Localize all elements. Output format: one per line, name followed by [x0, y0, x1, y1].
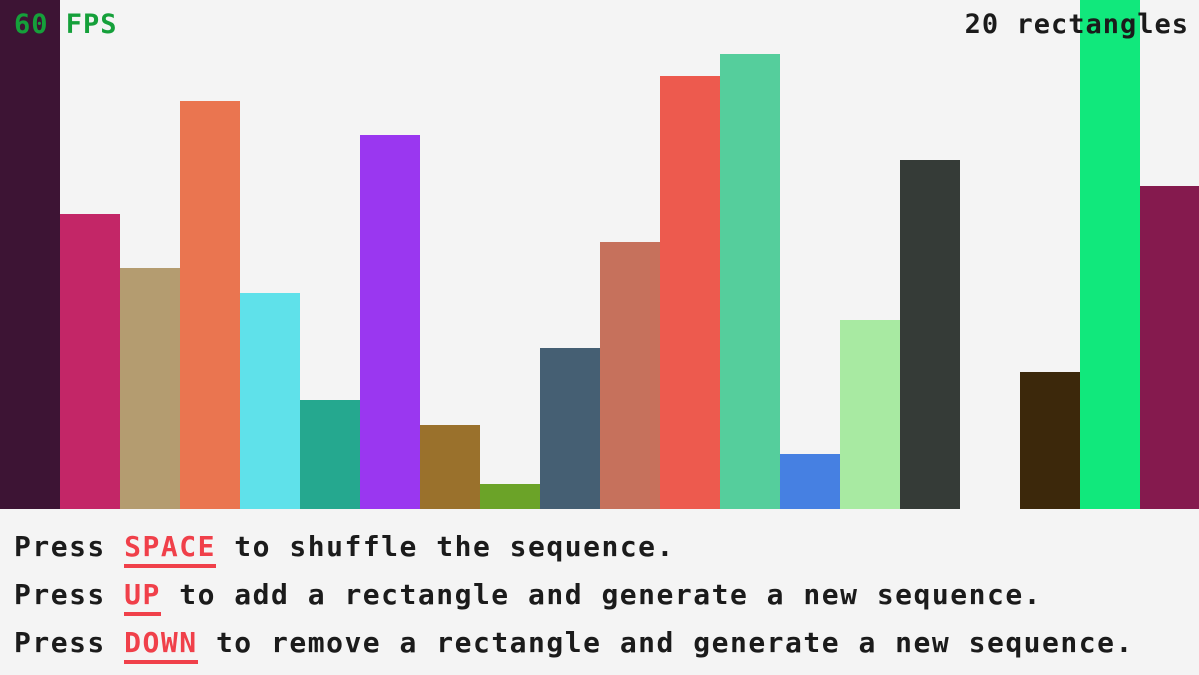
bar-chart[interactable] — [0, 0, 1199, 509]
bar-rectangle — [300, 400, 360, 509]
key-hint-up[interactable]: UP — [124, 578, 161, 616]
bar-rectangle — [1080, 0, 1140, 509]
bar-rectangle — [60, 214, 120, 509]
instruction-line: Press UP to add a rectangle and generate… — [14, 571, 1199, 619]
instruction-suffix: to remove a rectangle and generate a new… — [198, 626, 1134, 659]
instruction-prefix: Press — [14, 626, 124, 659]
bar-rectangle — [720, 54, 780, 509]
bar-rectangle — [900, 160, 960, 509]
instruction-line: Press DOWN to remove a rectangle and gen… — [14, 619, 1199, 667]
bar-rectangle — [780, 454, 840, 509]
bar-rectangle — [420, 425, 480, 509]
bar-rectangle — [540, 348, 600, 509]
bar-rectangle — [120, 268, 180, 509]
bar-rectangle — [480, 484, 540, 509]
instruction-suffix: to shuffle the sequence. — [216, 530, 675, 563]
bar-rectangle — [180, 101, 240, 509]
rectangle-count-readout: 20 rectangles — [965, 10, 1189, 40]
instruction-suffix: to add a rectangle and generate a new se… — [161, 578, 1042, 611]
bar-rectangle — [360, 135, 420, 509]
bar-rectangle — [1140, 186, 1199, 509]
bar-rectangle — [1020, 372, 1080, 509]
instruction-prefix: Press — [14, 578, 124, 611]
instruction-line: Press SPACE to shuffle the sequence. — [14, 523, 1199, 571]
key-hint-space[interactable]: SPACE — [124, 530, 216, 568]
bar-rectangle — [840, 320, 900, 509]
bar-rectangle — [240, 293, 300, 509]
bar-rectangle — [600, 242, 660, 509]
app-canvas: 60 FPS 20 rectangles Press SPACE to shuf… — [0, 0, 1199, 675]
key-hint-down[interactable]: DOWN — [124, 626, 197, 664]
instructions-panel: Press SPACE to shuffle the sequence.Pres… — [0, 509, 1199, 675]
bar-rectangle — [660, 76, 720, 509]
instruction-prefix: Press — [14, 530, 124, 563]
bar-rectangle — [0, 0, 60, 509]
fps-readout: 60 FPS — [14, 10, 118, 40]
